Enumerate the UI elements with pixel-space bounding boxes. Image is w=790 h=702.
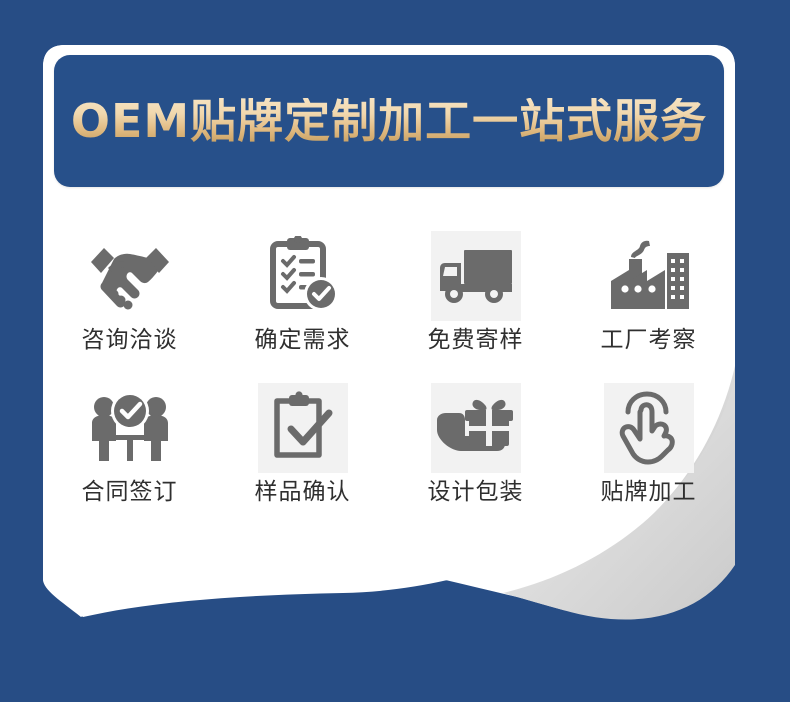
delivery-truck-icon [431,231,521,321]
clipboard-checklist-icon [258,231,348,321]
contract-signing-icon [85,383,175,473]
process-step-sample-confirm[interactable]: 样品确认 [228,383,378,504]
page-root: OEM贴牌定制加工一站式服务 咨询洽谈 [0,0,790,702]
process-step-label: 工厂考察 [601,329,697,352]
process-step-label: 样品确认 [255,481,351,504]
process-step-design-packaging[interactable]: 设计包装 [401,383,551,504]
process-step-label: 确定需求 [255,329,351,352]
header-banner-wrap: OEM贴牌定制加工一站式服务 [43,45,735,195]
process-step-contract[interactable]: 合同签订 [55,383,205,504]
process-step-label: 设计包装 [428,481,524,504]
process-step-label: 贴牌加工 [601,481,697,504]
process-step-label: 合同签订 [82,481,178,504]
clipboard-check-icon [258,383,348,473]
process-step-oem-processing[interactable]: 贴牌加工 [574,383,724,504]
factory-icon [604,231,694,321]
process-step-free-sample[interactable]: 免费寄样 [401,231,551,352]
process-row-2: 合同签订 样品确认 [43,352,735,504]
tap-hand-icon [604,383,694,473]
process-step-factory-visit[interactable]: 工厂考察 [574,231,724,352]
page-title: OEM贴牌定制加工一站式服务 [65,98,713,144]
header-banner: OEM贴牌定制加工一站式服务 [54,55,724,187]
process-step-label: 免费寄样 [428,329,524,352]
process-step-consult[interactable]: 咨询洽谈 [55,231,205,352]
process-steps-grid: 咨询洽谈 [43,200,735,504]
hand-gift-icon [431,383,521,473]
process-row-1: 咨询洽谈 [43,200,735,352]
process-step-label: 咨询洽谈 [82,329,178,352]
handshake-icon [85,231,175,321]
process-step-requirements[interactable]: 确定需求 [228,231,378,352]
